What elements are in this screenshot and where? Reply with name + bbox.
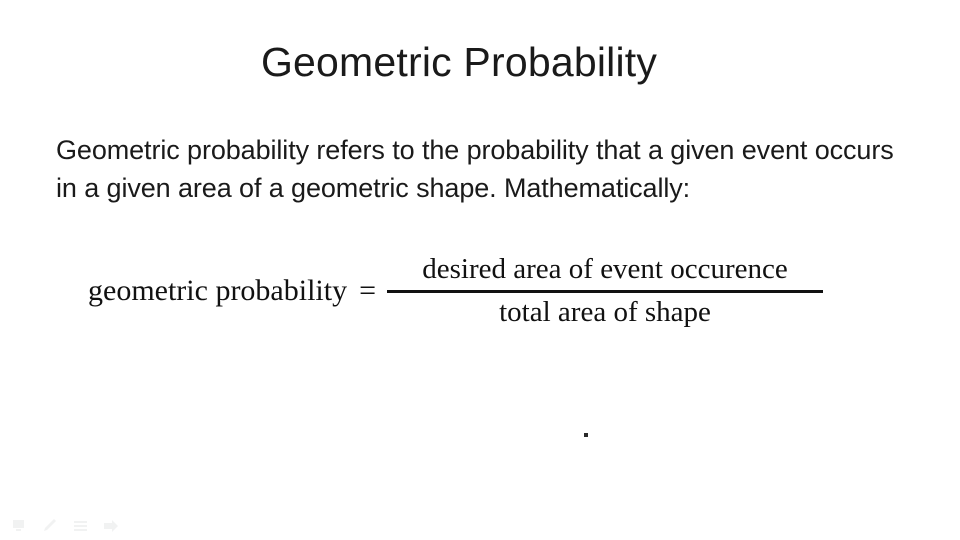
presenter-toolbar[interactable] xyxy=(12,518,120,534)
next-arrow-icon[interactable] xyxy=(102,518,120,534)
body-paragraph: Geometric probability refers to the prob… xyxy=(56,131,912,207)
fraction-bar xyxy=(387,290,823,293)
formula-left-side: geometric probability xyxy=(88,276,347,306)
fraction-denominator: total area of shape xyxy=(495,295,715,330)
slide-canvas: Geometric Probability Geometric probabil… xyxy=(0,0,960,540)
menu-icon[interactable] xyxy=(72,518,90,534)
geometric-probability-formula: geometric probability = desired area of … xyxy=(88,252,823,331)
normal-view-icon[interactable] xyxy=(12,518,30,534)
equals-sign: = xyxy=(359,276,376,306)
fraction-numerator: desired area of event occurence xyxy=(418,252,792,287)
fraction: desired area of event occurence total ar… xyxy=(387,252,823,331)
page-title: Geometric Probability xyxy=(0,40,960,86)
pen-icon[interactable] xyxy=(42,518,60,534)
stray-dot-artifact xyxy=(584,433,588,437)
